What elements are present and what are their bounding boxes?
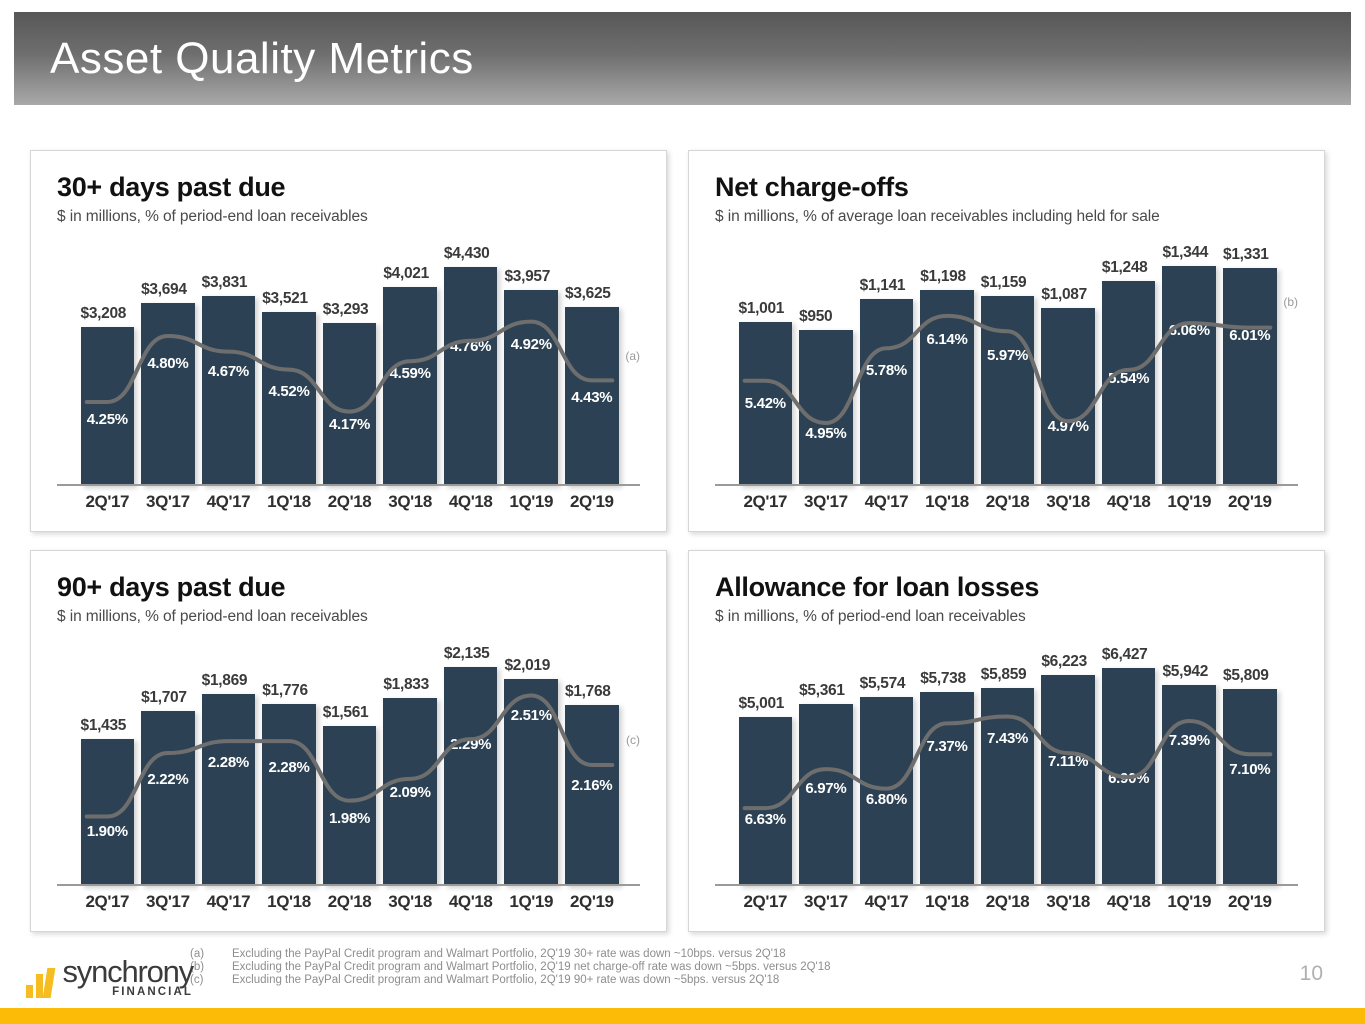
bar-rate-label: 7.10% (1229, 761, 1270, 778)
bar-value-label: $5,361 (799, 682, 845, 700)
chart-subtitle: $ in millions, % of average loan receiva… (715, 208, 1298, 226)
bar-slot[interactable]: $3,5214.52% (262, 234, 316, 486)
bar-rate-label: 2.09% (390, 784, 431, 801)
bar-rate-label: 4.97% (1048, 418, 1089, 435)
bar[interactable]: $5,3616.97% (799, 704, 853, 885)
footnotes: (a) Excluding the PayPal Credit program … (190, 948, 1090, 987)
bar-slot[interactable]: $9504.95% (799, 234, 853, 486)
bar-slot[interactable]: $1,7762.28% (262, 634, 316, 886)
bar[interactable]: $1,4351.90% (81, 739, 135, 886)
bar-slot[interactable]: $5,3616.97% (799, 634, 853, 886)
bar-rate-label: 2.22% (147, 771, 188, 788)
bar[interactable]: $1,7072.22% (141, 711, 195, 886)
bar-rate-label: 2.51% (511, 707, 552, 724)
bar[interactable]: $1,1986.14% (920, 290, 974, 486)
plot-area: $3,2084.25%$3,6944.80%$3,8314.67%$3,5214… (77, 234, 622, 486)
chart-card-30-days-past-due: 30+ days past due $ in millions, % of pe… (30, 150, 667, 532)
x-axis-labels: 2Q'173Q'174Q'171Q'182Q'183Q'184Q'181Q'19… (77, 492, 622, 522)
x-axis-tick-label: 2Q'19 (565, 492, 619, 522)
bar-rate-label: 4.95% (805, 425, 846, 442)
bar-slot[interactable]: $1,7072.22% (141, 634, 195, 886)
bar-value-label: $5,001 (739, 695, 785, 713)
bar-slot[interactable]: $1,3446.06% (1162, 234, 1216, 486)
bar-rate-label: 6.14% (926, 331, 967, 348)
bars-logo-icon (26, 968, 56, 998)
bar-rate-label: 4.92% (511, 336, 552, 353)
chart-card-90-days-past-due: 90+ days past due $ in millions, % of pe… (30, 550, 667, 932)
bar-value-label: $6,427 (1102, 646, 1148, 664)
x-axis-labels: 2Q'173Q'174Q'171Q'182Q'183Q'184Q'181Q'19… (735, 892, 1280, 922)
bar-rate-label: 6.01% (1229, 327, 1270, 344)
chart-area: $1,0015.42%$9504.95%$1,1415.78%$1,1986.1… (715, 234, 1298, 524)
bar-slot[interactable]: $5,8097.10% (1223, 634, 1277, 886)
bar-rate-label: 2.29% (450, 736, 491, 753)
x-axis-tick-label: 4Q'18 (444, 892, 498, 922)
bar-rate-label: 6.97% (805, 780, 846, 797)
bar-slot[interactable]: $4,4304.76% (444, 234, 498, 486)
bar-value-label: $1,435 (81, 717, 127, 735)
x-axis-tick-label: 1Q'19 (504, 892, 558, 922)
chart-area: $1,4351.90%$1,7072.22%$1,8692.28%$1,7762… (57, 634, 640, 924)
x-axis-tick-label: 4Q'17 (202, 892, 256, 922)
bar-slot[interactable]: $3,6254.43% (565, 234, 619, 486)
x-axis-tick-label: 4Q'18 (1102, 892, 1156, 922)
bar-value-label: $1,141 (860, 277, 906, 295)
footnote-key: (a) (190, 948, 232, 960)
chart-footnote-marker: (a) (625, 349, 640, 363)
bar-value-label: $5,574 (860, 675, 906, 693)
bar-rate-label: 4.17% (329, 416, 370, 433)
bar-value-label: $3,293 (323, 301, 369, 319)
bar-slot[interactable]: $5,7387.37% (920, 634, 974, 886)
chart-title: Net charge-offs (715, 173, 1298, 203)
bar-rate-label: 5.54% (1108, 370, 1149, 387)
x-axis-line (57, 884, 640, 886)
bar-rate-label: 6.06% (1169, 322, 1210, 339)
bar[interactable]: $3,6944.80% (141, 303, 195, 486)
x-axis-tick-label: 1Q'19 (504, 492, 558, 522)
bar-rate-label: 7.37% (926, 738, 967, 755)
bar-value-label: $3,694 (141, 281, 187, 299)
bar-slot[interactable]: $2,0192.51% (504, 634, 558, 886)
x-axis-tick-label: 1Q'19 (1162, 492, 1216, 522)
bar-rate-label: 4.76% (450, 338, 491, 355)
bar-value-label: $1,198 (920, 268, 966, 286)
bar-value-label: $2,135 (444, 645, 490, 663)
bar[interactable]: $1,7682.16% (565, 705, 619, 886)
page-number: 10 (1300, 962, 1323, 986)
bar-rate-label: 6.90% (1108, 770, 1149, 787)
x-axis-tick-label: 2Q'18 (323, 492, 377, 522)
bar[interactable]: $5,7387.37% (920, 692, 974, 886)
x-axis-tick-label: 4Q'17 (860, 892, 914, 922)
bar-slot[interactable]: $1,0874.97% (1041, 234, 1095, 486)
bar[interactable]: $9504.95% (799, 330, 853, 485)
bar-rate-label: 4.43% (571, 389, 612, 406)
x-axis-tick-label: 3Q'17 (799, 892, 853, 922)
bar-slot[interactable]: $6,2237.11% (1041, 634, 1095, 886)
x-axis-line (57, 484, 640, 486)
bar-value-label: $3,208 (81, 305, 127, 323)
x-axis-tick-label: 1Q'18 (920, 892, 974, 922)
chart-title: 30+ days past due (57, 173, 640, 203)
chart-footnote-marker: (b) (1283, 295, 1298, 309)
bar-value-label: $4,021 (383, 265, 429, 283)
x-axis-tick-label: 2Q'18 (323, 892, 377, 922)
bar-slot[interactable]: $1,8692.28% (202, 634, 256, 886)
x-axis-tick-label: 2Q'19 (1223, 492, 1277, 522)
chart-title: Allowance for loan losses (715, 573, 1298, 603)
bar-value-label: $5,942 (1162, 663, 1208, 681)
bar-slot[interactable]: $5,9427.39% (1162, 634, 1216, 886)
bar[interactable]: $1,1595.97% (981, 296, 1035, 486)
bar-slot[interactable]: $1,0015.42% (739, 234, 793, 486)
bar-value-label: $950 (799, 308, 832, 326)
bar-value-label: $1,159 (981, 274, 1027, 292)
bar[interactable]: $5,8597.43% (981, 688, 1035, 886)
chart-subtitle: $ in millions, % of period-end loan rece… (715, 608, 1298, 626)
bar-slot[interactable]: $1,3316.01% (1223, 234, 1277, 486)
bar[interactable]: $1,5611.98% (323, 726, 377, 886)
bar-value-label: $1,768 (565, 683, 611, 701)
bar-slot[interactable]: $1,1595.97% (981, 234, 1035, 486)
bar-value-label: $3,957 (504, 268, 550, 286)
footnote-text: Excluding the PayPal Credit program and … (232, 961, 831, 973)
bar-value-label: $1,869 (202, 672, 248, 690)
x-axis-tick-label: 2Q'17 (81, 892, 135, 922)
bar-slot[interactable]: $2,1352.29% (444, 634, 498, 886)
bar-slot[interactable]: $5,8597.43% (981, 634, 1035, 886)
logo-wordmark: synchrony (63, 958, 194, 985)
bar[interactable]: $1,3446.06% (1162, 266, 1216, 486)
bar-rate-label: 1.98% (329, 810, 370, 827)
chart-card-allowance-for-loan-losses: Allowance for loan losses $ in millions,… (688, 550, 1325, 932)
bar[interactable]: $3,2934.17% (323, 323, 377, 486)
footnote-key: (c) (190, 974, 232, 986)
bar-value-label: $1,331 (1223, 246, 1269, 264)
bar[interactable]: $6,2237.11% (1041, 675, 1095, 885)
bottom-accent-bar (0, 1008, 1365, 1024)
bar[interactable]: $5,8097.10% (1223, 689, 1277, 885)
footnote-row: (c) Excluding the PayPal Credit program … (190, 974, 1090, 986)
bar-rate-label: 4.80% (147, 355, 188, 372)
bar-value-label: $3,625 (565, 285, 611, 303)
bar[interactable]: $3,5214.52% (262, 312, 316, 486)
x-axis-tick-label: 4Q'17 (860, 492, 914, 522)
footnote-key: (b) (190, 961, 232, 973)
bar-rate-label: 6.80% (866, 791, 907, 808)
bar-slot[interactable]: $3,6944.80% (141, 234, 195, 486)
chart-area: $5,0016.63%$5,3616.97%$5,5746.80%$5,7387… (715, 634, 1298, 924)
bar-value-label: $5,738 (920, 670, 966, 688)
x-axis-tick-label: 4Q'18 (1102, 492, 1156, 522)
bar-slot[interactable]: $1,5611.98% (323, 634, 377, 886)
bar-slot[interactable]: $1,1415.78% (860, 234, 914, 486)
chart-title: 90+ days past due (57, 573, 640, 603)
bar[interactable]: $1,7762.28% (262, 704, 316, 886)
plot-area: $1,4351.90%$1,7072.22%$1,8692.28%$1,7762… (77, 634, 622, 886)
x-axis-tick-label: 2Q'19 (565, 892, 619, 922)
bar[interactable]: $1,3316.01% (1223, 268, 1277, 486)
bar-value-label: $4,430 (444, 245, 490, 263)
x-axis-tick-label: 3Q'17 (141, 892, 195, 922)
x-axis-labels: 2Q'173Q'174Q'171Q'182Q'183Q'184Q'181Q'19… (77, 892, 622, 922)
page-title: Asset Quality Metrics (50, 37, 474, 81)
bar-rate-label: 7.39% (1169, 732, 1210, 749)
bar-value-label: $3,521 (262, 290, 308, 308)
x-axis-tick-label: 3Q'17 (141, 492, 195, 522)
bar-rate-label: 2.16% (571, 777, 612, 794)
x-axis-tick-label: 3Q'18 (1041, 492, 1095, 522)
chart-footnote-marker: (c) (626, 733, 640, 747)
x-axis-tick-label: 3Q'18 (1041, 892, 1095, 922)
bar[interactable]: $1,1415.78% (860, 299, 914, 486)
x-axis-line (715, 484, 1298, 486)
bar-value-label: $6,223 (1041, 653, 1087, 671)
bar[interactable]: $3,2084.25% (81, 327, 135, 486)
bar[interactable]: $1,0874.97% (1041, 308, 1095, 486)
footnote-text: Excluding the PayPal Credit program and … (232, 948, 786, 960)
x-axis-tick-label: 2Q'18 (981, 892, 1035, 922)
footnote-row: (a) Excluding the PayPal Credit program … (190, 948, 1090, 960)
bar[interactable]: $5,9427.39% (1162, 685, 1216, 886)
bar-value-label: $1,561 (323, 704, 369, 722)
synchrony-logo: synchrony FINANCIAL (26, 958, 193, 998)
footnote-text: Excluding the PayPal Credit program and … (232, 974, 779, 986)
x-axis-tick-label: 3Q'18 (383, 492, 437, 522)
bar[interactable]: $5,0016.63% (739, 717, 793, 886)
plot-area: $1,0015.42%$9504.95%$1,1415.78%$1,1986.1… (735, 234, 1280, 486)
bar-value-label: $1,087 (1041, 286, 1087, 304)
bar-slot[interactable]: $3,2084.25% (81, 234, 135, 486)
bar-rate-label: 4.25% (87, 411, 128, 428)
x-axis-tick-label: 4Q'18 (444, 492, 498, 522)
bar-slot[interactable]: $1,8332.09% (383, 634, 437, 886)
x-axis-line (715, 884, 1298, 886)
bar-rate-label: 4.67% (208, 363, 249, 380)
bar[interactable]: $3,6254.43% (565, 307, 619, 486)
bar[interactable]: $2,0192.51% (504, 679, 558, 886)
bar-rate-label: 5.97% (987, 347, 1028, 364)
bar-value-label: $1,707 (141, 689, 187, 707)
plot-area: $5,0016.63%$5,3616.97%$5,5746.80%$5,7387… (735, 634, 1280, 886)
bar-slot[interactable]: $6,4276.90% (1102, 634, 1156, 886)
bar[interactable]: $1,8692.28% (202, 694, 256, 885)
bar[interactable]: $4,0214.59% (383, 287, 437, 486)
bar[interactable]: $3,9574.92% (504, 290, 558, 486)
bar-rate-label: 4.52% (268, 383, 309, 400)
bar-rate-label: 4.59% (390, 365, 431, 382)
bar-value-label: $5,809 (1223, 667, 1269, 685)
chart-subtitle: $ in millions, % of period-end loan rece… (57, 608, 640, 626)
bar-rate-label: 1.90% (87, 823, 128, 840)
bar-rate-label: 5.78% (866, 362, 907, 379)
bar-rate-label: 5.42% (745, 395, 786, 412)
bar-slot[interactable]: $4,0214.59% (383, 234, 437, 486)
footnote-row: (b) Excluding the PayPal Credit program … (190, 961, 1090, 973)
x-axis-labels: 2Q'173Q'174Q'171Q'182Q'183Q'184Q'181Q'19… (735, 492, 1280, 522)
x-axis-tick-label: 2Q'17 (81, 492, 135, 522)
bar-slot[interactable]: $5,0016.63% (739, 634, 793, 886)
bar-value-label: $5,859 (981, 666, 1027, 684)
bar-rate-label: 7.11% (1048, 753, 1088, 770)
slide-header: Asset Quality Metrics (14, 12, 1351, 105)
bar-slot[interactable]: $5,5746.80% (860, 634, 914, 886)
x-axis-tick-label: 3Q'18 (383, 892, 437, 922)
x-axis-tick-label: 1Q'18 (262, 492, 316, 522)
bar[interactable]: $6,4276.90% (1102, 668, 1156, 885)
bar-value-label: $3,831 (202, 274, 248, 292)
chart-subtitle: $ in millions, % of period-end loan rece… (57, 208, 640, 226)
x-axis-tick-label: 2Q'18 (981, 492, 1035, 522)
bar[interactable]: $1,2485.54% (1102, 281, 1156, 485)
x-axis-tick-label: 1Q'18 (920, 492, 974, 522)
x-axis-tick-label: 2Q'17 (739, 892, 793, 922)
chart-area: $3,2084.25%$3,6944.80%$3,8314.67%$3,5214… (57, 234, 640, 524)
bar-value-label: $1,248 (1102, 259, 1148, 277)
bar[interactable]: $1,0015.42% (739, 322, 793, 486)
bar-value-label: $1,833 (383, 676, 429, 694)
bar[interactable]: $2,1352.29% (444, 667, 498, 886)
logo-tagline: FINANCIAL (63, 986, 194, 998)
x-axis-tick-label: 4Q'17 (202, 492, 256, 522)
bar-slot[interactable]: $1,4351.90% (81, 634, 135, 886)
bar-slot[interactable]: $1,7682.16% (565, 634, 619, 886)
bar-slot[interactable]: $1,1986.14% (920, 234, 974, 486)
bar-value-label: $1,344 (1162, 244, 1208, 262)
bar-slot[interactable]: $1,2485.54% (1102, 234, 1156, 486)
bar-slot[interactable]: $3,2934.17% (323, 234, 377, 486)
x-axis-tick-label: 1Q'18 (262, 892, 316, 922)
x-axis-tick-label: 3Q'17 (799, 492, 853, 522)
bar-rate-label: 2.28% (208, 754, 249, 771)
chart-card-net-charge-offs: Net charge-offs $ in millions, % of aver… (688, 150, 1325, 532)
x-axis-tick-label: 1Q'19 (1162, 892, 1216, 922)
bar-value-label: $1,776 (262, 682, 308, 700)
x-axis-tick-label: 2Q'17 (739, 492, 793, 522)
bar-value-label: $2,019 (504, 657, 550, 675)
bar-value-label: $1,001 (739, 300, 785, 318)
bar-slot[interactable]: $3,8314.67% (202, 234, 256, 486)
logo-text: synchrony FINANCIAL (63, 958, 194, 998)
x-axis-tick-label: 2Q'19 (1223, 892, 1277, 922)
bar[interactable]: $5,5746.80% (860, 697, 914, 886)
bar-rate-label: 6.63% (745, 811, 786, 828)
bar[interactable]: $1,8332.09% (383, 698, 437, 886)
bar-rate-label: 7.43% (987, 730, 1028, 747)
bar-rate-label: 2.28% (268, 759, 309, 776)
bar[interactable]: $4,4304.76% (444, 267, 498, 486)
bar-slot[interactable]: $3,9574.92% (504, 234, 558, 486)
bar[interactable]: $3,8314.67% (202, 296, 256, 485)
